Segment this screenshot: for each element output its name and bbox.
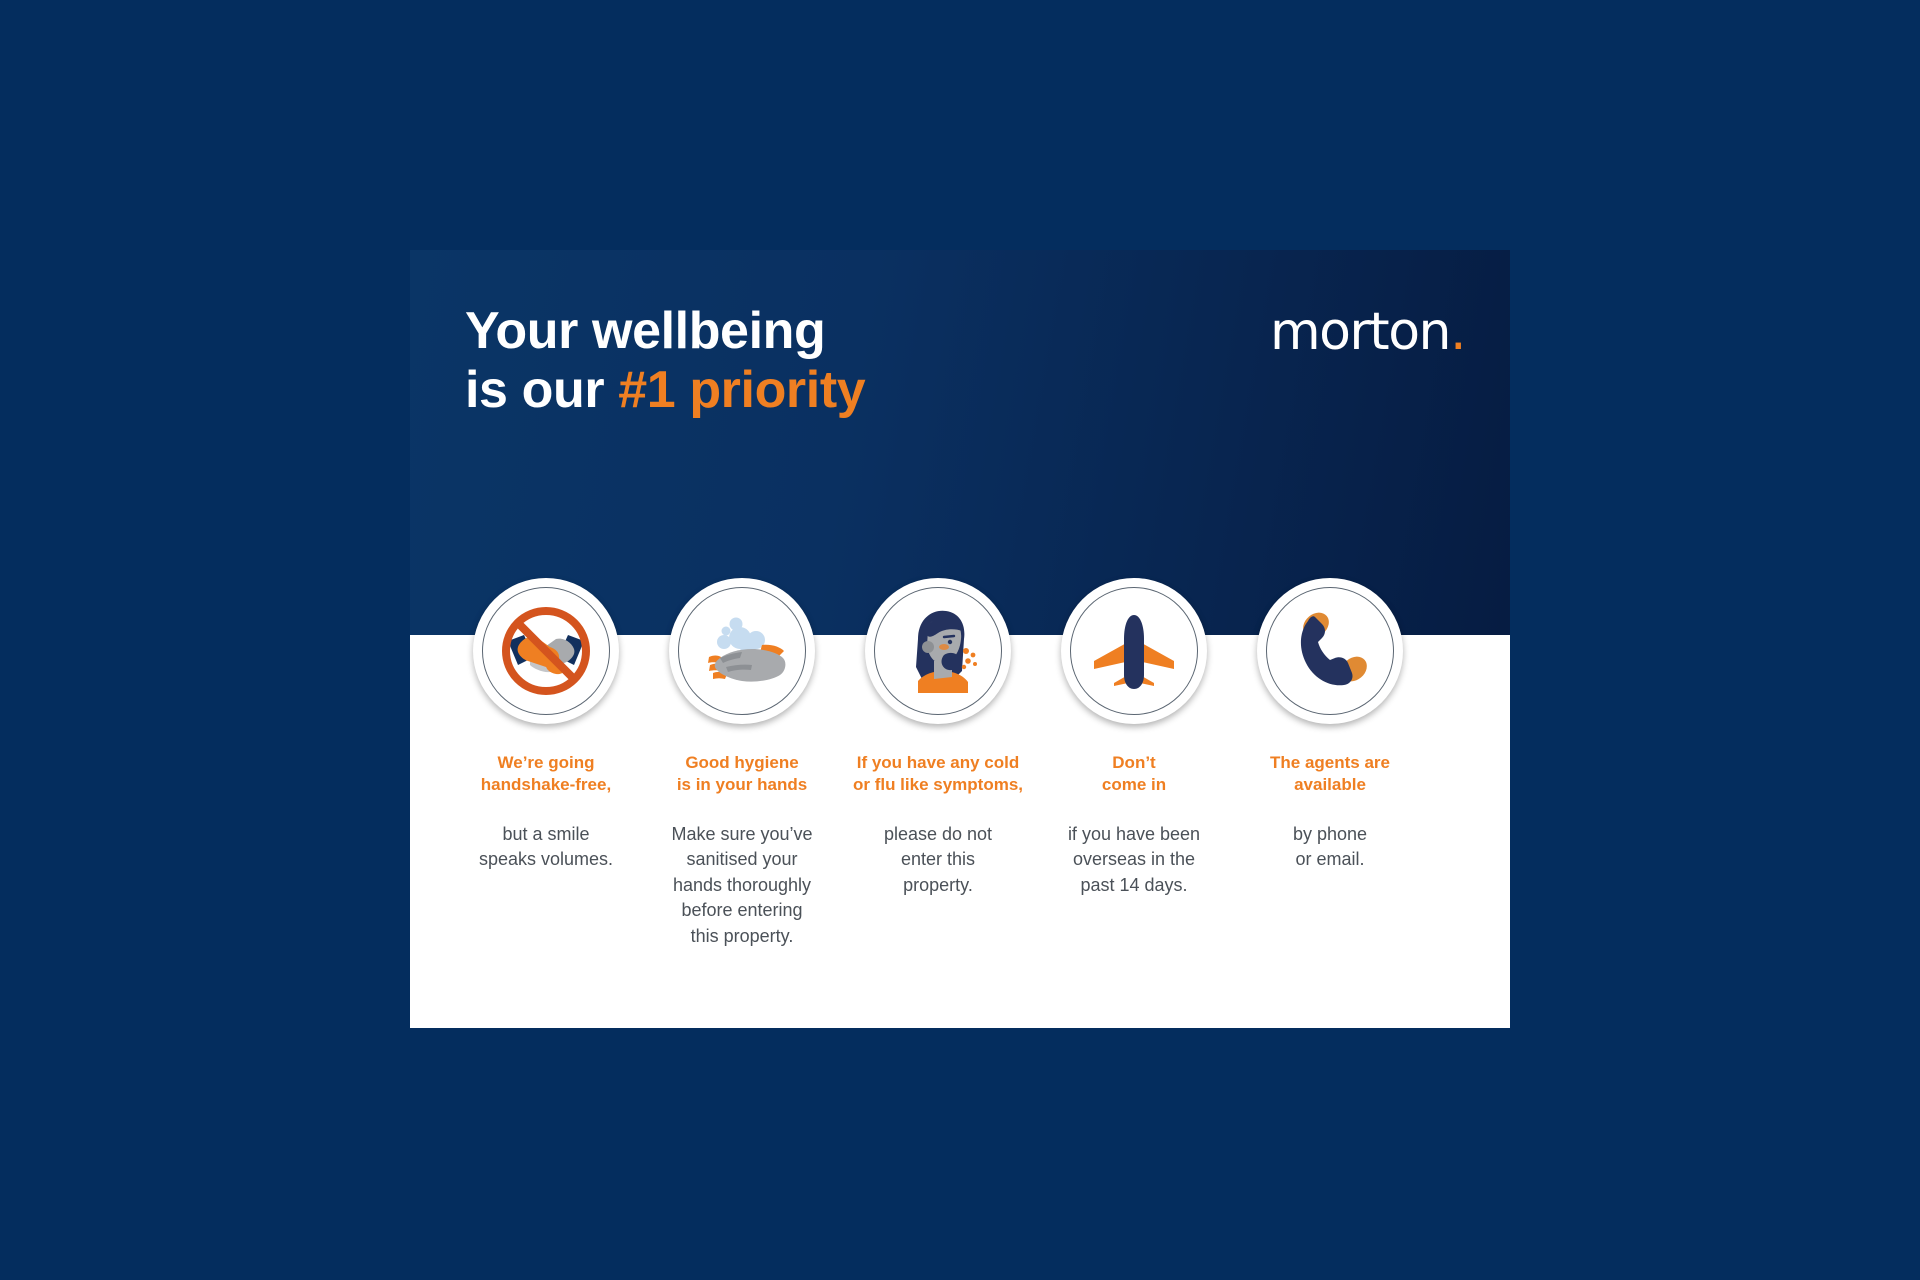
guideline-title: We’re going handshake-free,: [481, 752, 611, 796]
sneezing-person-icon: [882, 595, 994, 707]
guideline-column-symptoms: If you have any cold or flu like symptom…: [840, 578, 1036, 898]
guideline-title: Good hygiene is in your hands: [677, 752, 807, 796]
headline-line-1: Your wellbeing: [465, 302, 825, 360]
logo-dot: .: [1450, 302, 1465, 362]
guideline-column-travel: Don’t come in if you have been overseas …: [1036, 578, 1232, 898]
morton-logo: morton.: [1270, 306, 1465, 358]
logo-wordmark: morton: [1270, 302, 1450, 362]
badge-hand-washing: [669, 578, 815, 724]
guideline-body: but a smile speaks volumes.: [479, 822, 613, 873]
guideline-column-handshake: We’re going handshake-free, but a smile …: [448, 578, 644, 873]
guideline-body: if you have been overseas in the past 14…: [1068, 822, 1200, 899]
guideline-body: please do not enter this property.: [884, 822, 992, 899]
badge-airplane: [1061, 578, 1207, 724]
page-title: Your wellbeing is our #1 priority: [465, 302, 865, 421]
badge-no-handshake: [473, 578, 619, 724]
headline-line-2: is our #1 priority: [465, 361, 865, 420]
guideline-column-hygiene: Good hygiene is in your hands Make sure …: [644, 578, 840, 949]
guideline-title: If you have any cold or flu like symptom…: [853, 752, 1023, 796]
no-handshake-icon: [490, 595, 602, 707]
airplane-icon: [1078, 595, 1190, 707]
guideline-body: Make sure you’ve sanitised your hands th…: [671, 822, 812, 950]
guideline-title: Don’t come in: [1102, 752, 1166, 796]
headline-line-2-accent: #1 priority: [618, 361, 865, 419]
guideline-column-contact: The agents are available by phone or ema…: [1232, 578, 1428, 873]
poster-canvas: Your wellbeing is our #1 priority morton…: [0, 0, 1920, 1280]
badge-telephone: [1257, 578, 1403, 724]
telephone-handset-icon: [1274, 595, 1386, 707]
guideline-title: The agents are available: [1270, 752, 1390, 796]
hand-washing-icon: [686, 595, 798, 707]
headline-line-2-plain: is our: [465, 361, 618, 419]
badge-sneezing-person: [865, 578, 1011, 724]
guideline-body: by phone or email.: [1293, 822, 1367, 873]
guidelines-row: We’re going handshake-free, but a smile …: [410, 578, 1510, 998]
